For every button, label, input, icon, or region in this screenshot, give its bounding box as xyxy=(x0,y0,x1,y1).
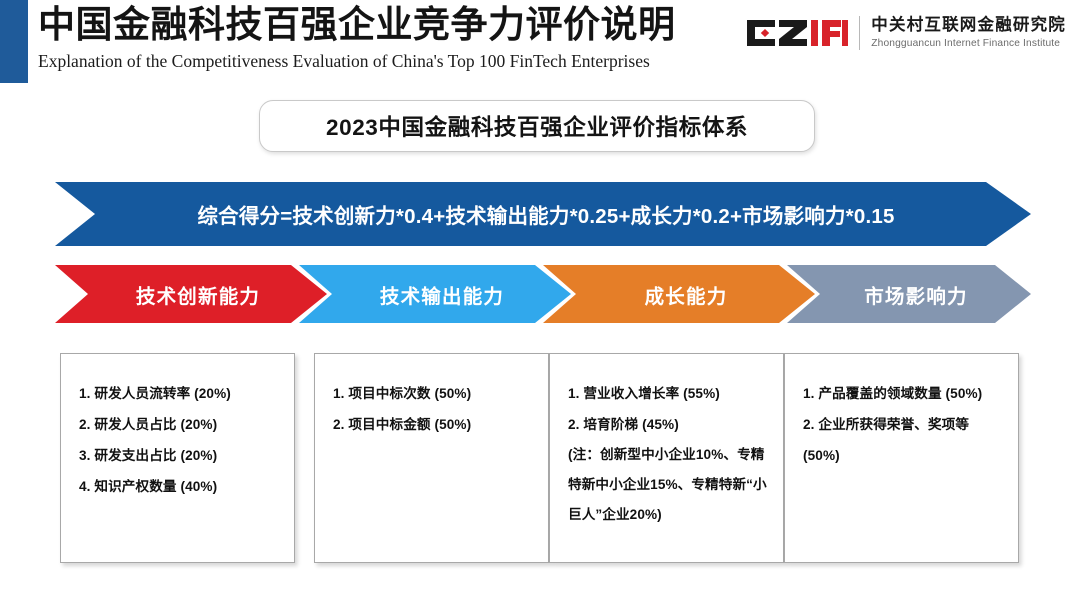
indicator-card-technology-innovation: 1. 研发人员流转率 (20%) 2. 研发人员占比 (20%) 3. 研发支出… xyxy=(60,353,295,563)
pillar-chevron-growth: 成长能力 xyxy=(543,265,815,323)
card-line: 2. 企业所获得荣誉、奖项等 (50%) xyxy=(803,409,1005,471)
logo-name-cn: 中关村互联网金融研究院 xyxy=(871,16,1066,35)
page-title: 中国金融科技百强企业竞争力评价说明 xyxy=(38,4,676,48)
indicator-card-technology-output: 1. 项目中标次数 (50%) 2. 项目中标金额 (50%) xyxy=(314,353,549,563)
card-line: 2. 培育阶梯 (45%) xyxy=(568,409,770,440)
card-line: 1. 营业收入增长率 (55%) xyxy=(568,378,770,409)
indicator-card-row: 1. 研发人员流转率 (20%) 2. 研发人员占比 (20%) 3. 研发支出… xyxy=(60,353,1022,563)
logo-text-block: 中关村互联网金融研究院 Zhongguancun Internet Financ… xyxy=(871,16,1066,51)
card-note-line: (注：创新型中小企业10%、专精特新中小企业15%、专精特新“小巨人”企业20%… xyxy=(568,440,770,530)
card-line: 1. 产品覆盖的领域数量 (50%) xyxy=(803,378,1005,409)
pillar-label: 技术创新能力 xyxy=(122,280,260,309)
page-header: 中国金融科技百强企业竞争力评价说明 Explanation of the Com… xyxy=(0,0,1080,86)
section-title-box: 2023中国金融科技百强企业评价指标体系 xyxy=(259,100,815,152)
header-accent-bar xyxy=(0,0,28,83)
card-line: 1. 研发人员流转率 (20%) xyxy=(79,378,281,409)
logo-divider xyxy=(859,16,860,50)
indicator-card-market-influence: 1. 产品覆盖的领域数量 (50%) 2. 企业所获得荣誉、奖项等 (50%) xyxy=(784,353,1019,563)
formula-banner: 综合得分=技术创新力*0.4+技术输出能力*0.25+成长力*0.2+市场影响力… xyxy=(55,182,1031,246)
pillar-label: 技术输出能力 xyxy=(366,280,504,309)
card-line: 4. 知识产权数量 (40%) xyxy=(79,471,281,502)
pillar-chevron-technology-innovation: 技术创新能力 xyxy=(55,265,327,323)
czifi-logomark-icon xyxy=(745,18,849,48)
pillar-label: 成长能力 xyxy=(631,280,728,309)
pillar-label: 市场影响力 xyxy=(850,280,968,309)
card-line: 2. 项目中标金额 (50%) xyxy=(333,409,535,440)
pillar-chevron-row: 技术创新能力 技术输出能力 成长能力 市场影响力 xyxy=(55,265,1031,323)
page-subtitle: Explanation of the Competitiveness Evalu… xyxy=(38,50,676,72)
section-title-text: 2023中国金融科技百强企业评价指标体系 xyxy=(326,110,748,142)
card-line: 2. 研发人员占比 (20%) xyxy=(79,409,281,440)
pillar-chevron-technology-output: 技术输出能力 xyxy=(299,265,571,323)
card-line: 1. 项目中标次数 (50%) xyxy=(333,378,535,409)
pillar-chevron-market-influence: 市场影响力 xyxy=(787,265,1031,323)
title-block: 中国金融科技百强企业竞争力评价说明 Explanation of the Com… xyxy=(38,4,676,72)
institute-logo: 中关村互联网金融研究院 Zhongguancun Internet Financ… xyxy=(745,12,1066,54)
formula-text: 综合得分=技术创新力*0.4+技术输出能力*0.25+成长力*0.2+市场影响力… xyxy=(191,199,894,229)
indicator-card-growth: 1. 营业收入增长率 (55%) 2. 培育阶梯 (45%) (注：创新型中小企… xyxy=(549,353,784,563)
card-line: 3. 研发支出占比 (20%) xyxy=(79,440,281,471)
logo-name-en: Zhongguancun Internet Finance Institute xyxy=(871,37,1066,51)
